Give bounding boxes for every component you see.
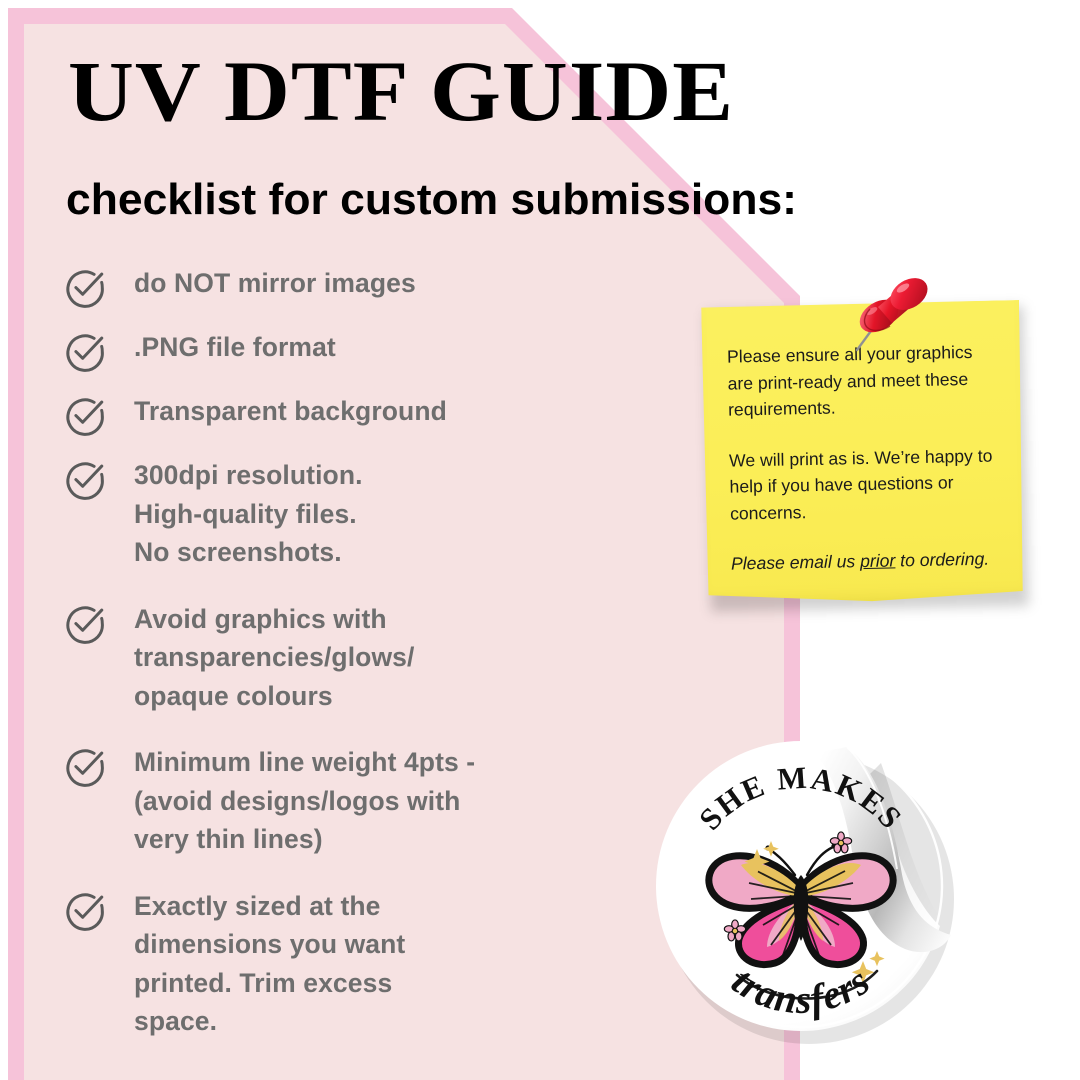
checklist: do NOT mirror images .PNG file format Tr… (62, 262, 622, 1057)
note-p3-before: Please email us (731, 551, 860, 573)
pushpin-icon (845, 276, 937, 368)
note-paragraph-2: We will print as is. We’re happy to help… (729, 442, 1002, 527)
note-paragraph-3: Please email us prior to ordering. (731, 545, 1003, 577)
check-circle-icon (62, 392, 108, 438)
check-circle-icon (62, 328, 108, 374)
check-circle-icon (62, 743, 108, 789)
check-circle-icon (62, 456, 108, 502)
list-item: Transparent background (62, 390, 622, 438)
list-item-label: Transparent background (134, 390, 447, 431)
page-title: UV DTF GUIDE (68, 48, 734, 134)
note-p3-emphasis: prior (860, 550, 896, 571)
logo-sticker: SHE MAKES (651, 723, 981, 1063)
note-p3-after: to ordering. (895, 549, 989, 571)
poster-canvas: UV DTF GUIDE checklist for custom submis… (0, 0, 1080, 1080)
check-circle-icon (62, 264, 108, 310)
list-item-label: Avoid graphics with transparencies/glows… (134, 598, 414, 716)
sticky-note-text: Please ensure all your graphics are prin… (727, 338, 1003, 577)
list-item: do NOT mirror images (62, 262, 622, 310)
list-item-label: .PNG file format (134, 326, 336, 367)
list-item-label: 300dpi resolution. High-quality files. N… (134, 454, 363, 572)
list-item: Avoid graphics with transparencies/glows… (62, 598, 622, 716)
check-circle-icon (62, 600, 108, 646)
list-item-label: Minimum line weight 4pts - (avoid design… (134, 741, 475, 859)
list-item-label: do NOT mirror images (134, 262, 416, 303)
check-circle-icon (62, 887, 108, 933)
list-item-label: Exactly sized at the dimensions you want… (134, 885, 405, 1041)
list-item: Minimum line weight 4pts - (avoid design… (62, 741, 622, 859)
list-item: .PNG file format (62, 326, 622, 374)
page-subtitle: checklist for custom submissions: (66, 178, 797, 222)
list-item: Exactly sized at the dimensions you want… (62, 885, 622, 1041)
list-item: 300dpi resolution. High-quality files. N… (62, 454, 622, 572)
